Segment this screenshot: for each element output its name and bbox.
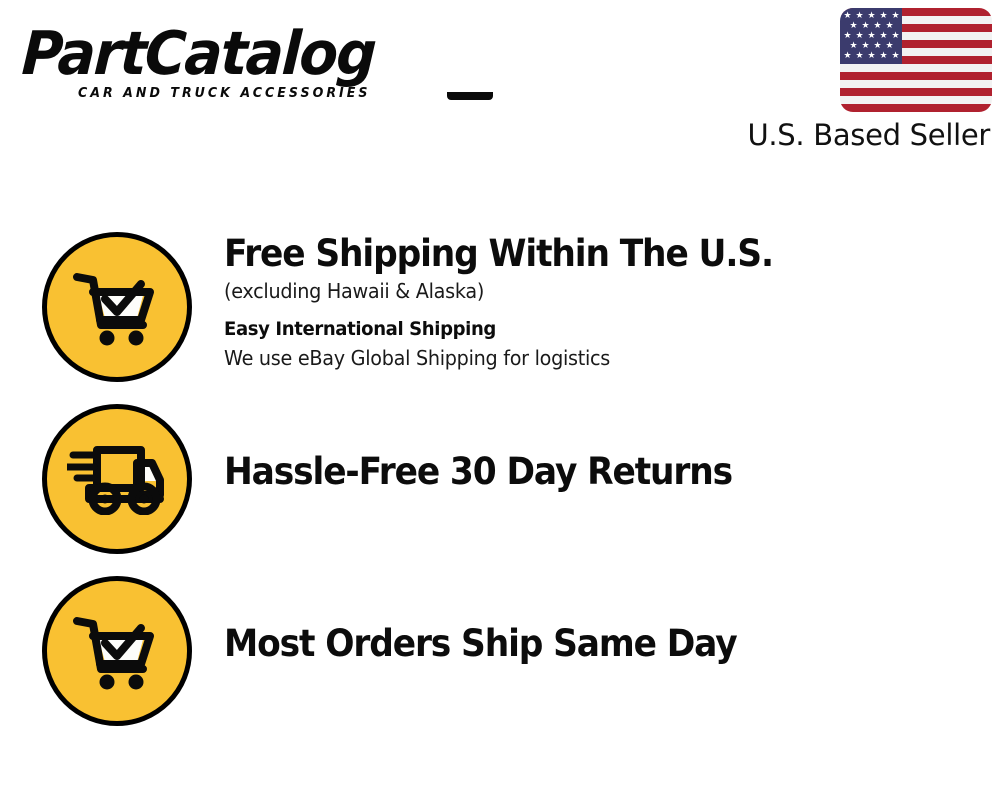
- flag-star: ★: [843, 51, 852, 60]
- flag-star: ★: [861, 41, 870, 50]
- flag-star: ★: [849, 41, 858, 50]
- brand-tagline: CAR AND TRUCK ACCESSORIES: [78, 86, 370, 102]
- flag-star: ★: [855, 51, 864, 60]
- feature-title: Most Orders Ship Same Day: [224, 622, 737, 666]
- flag-star: ★: [867, 31, 876, 40]
- flag-stripe: [840, 104, 992, 112]
- flag-stripe: [840, 96, 992, 104]
- shopping-cart-check-icon: [42, 576, 192, 726]
- flag-star: ★: [873, 41, 882, 50]
- feature-title: Free Shipping Within The U.S.: [224, 232, 773, 276]
- brand-swash-decoration: [447, 92, 493, 100]
- delivery-truck-icon: [42, 404, 192, 554]
- flag-canton: ★ ★ ★ ★ ★ ★ ★ ★ ★ ★ ★ ★ ★ ★ ★ ★ ★ ★ ★ ★: [840, 8, 902, 64]
- feature-text-block: Free Shipping Within The U.S. (excluding…: [224, 232, 814, 372]
- brand-tagline-row: CAR AND TRUCK ACCESSORIES: [22, 86, 482, 104]
- us-based-seller-block: ★ ★ ★ ★ ★ ★ ★ ★ ★ ★ ★ ★ ★ ★ ★ ★ ★ ★ ★ ★: [722, 8, 992, 152]
- flag-star: ★: [879, 31, 888, 40]
- feature-secondary-title: Easy International Shipping: [224, 314, 785, 344]
- page-header: PartCatalog CAR AND TRUCK ACCESSORIES: [0, 0, 1000, 170]
- flag-star: ★: [843, 31, 852, 40]
- flag-star: ★: [861, 21, 870, 30]
- flag-star: ★: [855, 31, 864, 40]
- us-based-seller-label: U.S. Based Seller: [747, 118, 990, 152]
- feature-subtitle: (excluding Hawaii & Alaska): [224, 276, 791, 306]
- brand-wordmark: PartCatalog: [21, 24, 466, 84]
- feature-text-block: Hassle-Free 30 Day Returns: [224, 404, 770, 494]
- flag-star: ★: [855, 11, 864, 20]
- flag-star: ★: [885, 21, 894, 30]
- flag-star: ★: [843, 11, 852, 20]
- feature-row-free-shipping: Free Shipping Within The U.S. (excluding…: [0, 232, 1000, 382]
- flag-star: ★: [891, 51, 900, 60]
- flag-star: ★: [849, 21, 858, 30]
- flag-star: ★: [867, 51, 876, 60]
- brand-logo[interactable]: PartCatalog CAR AND TRUCK ACCESSORIES: [22, 24, 492, 104]
- flag-star: ★: [879, 51, 888, 60]
- shopping-cart-check-icon: [42, 232, 192, 382]
- feature-row-returns: Hassle-Free 30 Day Returns: [0, 404, 1000, 554]
- flag-stripe: [840, 80, 992, 88]
- feature-text-block: Most Orders Ship Same Day: [224, 576, 775, 666]
- flag-star: ★: [885, 41, 894, 50]
- us-flag-icon: ★ ★ ★ ★ ★ ★ ★ ★ ★ ★ ★ ★ ★ ★ ★ ★ ★ ★ ★ ★: [840, 8, 992, 112]
- flag-stripe: [840, 72, 992, 80]
- flag-star: ★: [867, 11, 876, 20]
- flag-stripe: [840, 64, 992, 72]
- flag-star: ★: [879, 11, 888, 20]
- feature-row-same-day-ship: Most Orders Ship Same Day: [0, 576, 1000, 726]
- feature-title: Hassle-Free 30 Day Returns: [224, 450, 732, 494]
- flag-stripe: [840, 88, 992, 96]
- feature-secondary-body: We use eBay Global Shipping for logistic…: [224, 344, 791, 372]
- flag-star: ★: [873, 21, 882, 30]
- flag-star: ★: [891, 31, 900, 40]
- flag-star: ★: [891, 11, 900, 20]
